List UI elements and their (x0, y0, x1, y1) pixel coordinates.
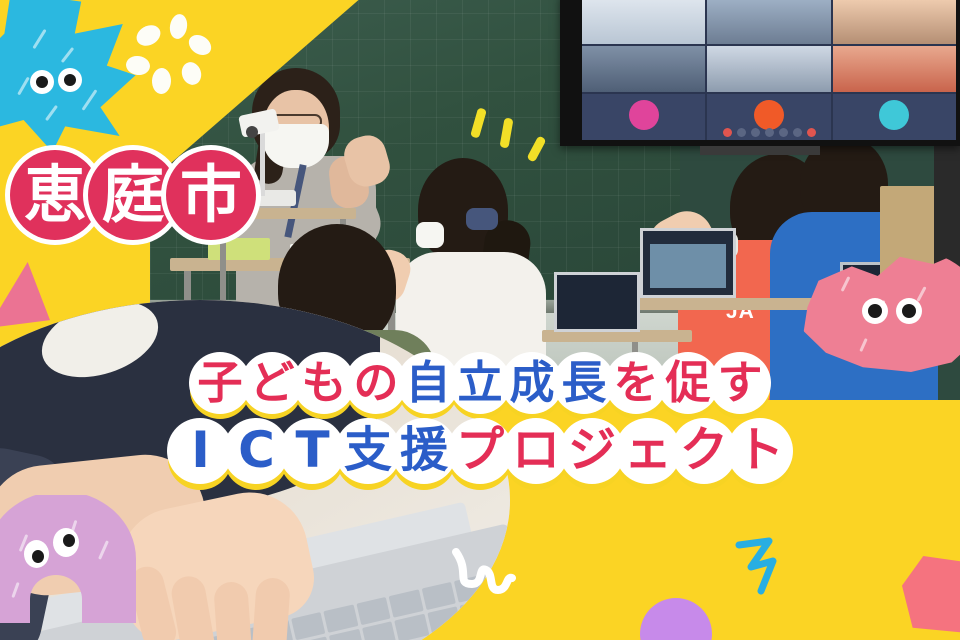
title-char: 成 (501, 352, 563, 414)
city-badge-char: 市 (166, 150, 256, 240)
chat-icon[interactable] (765, 128, 774, 137)
title-char: 援 (391, 418, 457, 484)
video-icon[interactable] (737, 128, 746, 137)
online-meeting-screen (582, 0, 956, 140)
title-char: 支 (335, 418, 401, 484)
title-char: も (293, 352, 355, 414)
mic-icon[interactable] (723, 128, 732, 137)
interactive-whiteboard-display (560, 0, 960, 146)
meeting-tile[interactable] (582, 0, 705, 44)
purple-character-eye-right (53, 528, 79, 557)
title-char: す (709, 352, 771, 414)
title-char: 自 (397, 352, 459, 414)
meeting-tile[interactable] (833, 46, 956, 92)
banner-canvas: JA (0, 0, 960, 640)
participants-icon[interactable] (751, 128, 760, 137)
white-wave-squiggle (450, 548, 560, 606)
share-icon[interactable] (779, 128, 788, 137)
title-char: ロ (503, 418, 569, 484)
desk-item-book (208, 238, 270, 260)
banner-alt-text: 恵庭市 子どもの自立成長を促すICT支援プロジェクト バナー (0, 0, 1, 1)
city-badge-char: 庭 (88, 150, 178, 240)
purple-circle-shape (640, 598, 712, 640)
student-desk (620, 298, 840, 310)
title-char: ジ (559, 418, 625, 484)
title-line-2: I C T 支 援 プ ロ ジ ェ ク ト (172, 418, 788, 484)
leave-icon[interactable] (807, 128, 816, 137)
blue-character-eye-right (58, 68, 82, 92)
title-char: の (345, 352, 407, 414)
purple-character-eye-left (24, 540, 49, 568)
title-char: ど (241, 352, 303, 414)
title-char: 子 (189, 352, 251, 414)
meeting-tile[interactable] (833, 0, 956, 44)
meeting-tile[interactable] (707, 46, 830, 92)
title-char: プ (447, 418, 513, 484)
title-char: 長 (553, 352, 615, 414)
title-char: ト (727, 418, 793, 484)
meeting-toolbar[interactable] (582, 124, 956, 140)
pink-character-eye-left (862, 298, 888, 324)
title-char: ェ (615, 418, 681, 484)
pink-character-eye-right (896, 298, 922, 324)
meeting-tile[interactable] (707, 0, 830, 44)
pink-pentagon-shape (902, 556, 960, 634)
title-line-1: 子 ど も の 自 立 成 長 を 促 す (194, 352, 766, 414)
blue-character-eye-left (30, 70, 54, 94)
title-char: ク (671, 418, 737, 484)
more-icon[interactable] (793, 128, 802, 137)
title-char: を (605, 352, 667, 414)
title-char: 立 (449, 352, 511, 414)
pink-triangle-shape (0, 262, 50, 328)
display-stand (700, 146, 820, 155)
title-char: 促 (657, 352, 719, 414)
meeting-tile[interactable] (582, 46, 705, 92)
city-badge-char: 恵 (10, 150, 100, 240)
city-badge: 恵 庭 市 (16, 150, 250, 240)
blue-zigzag-squiggle (735, 535, 815, 597)
banner-title: 子 ど も の 自 立 成 長 を 促 す I C T 支 援 プ ロ ジ ェ … (0, 352, 960, 484)
